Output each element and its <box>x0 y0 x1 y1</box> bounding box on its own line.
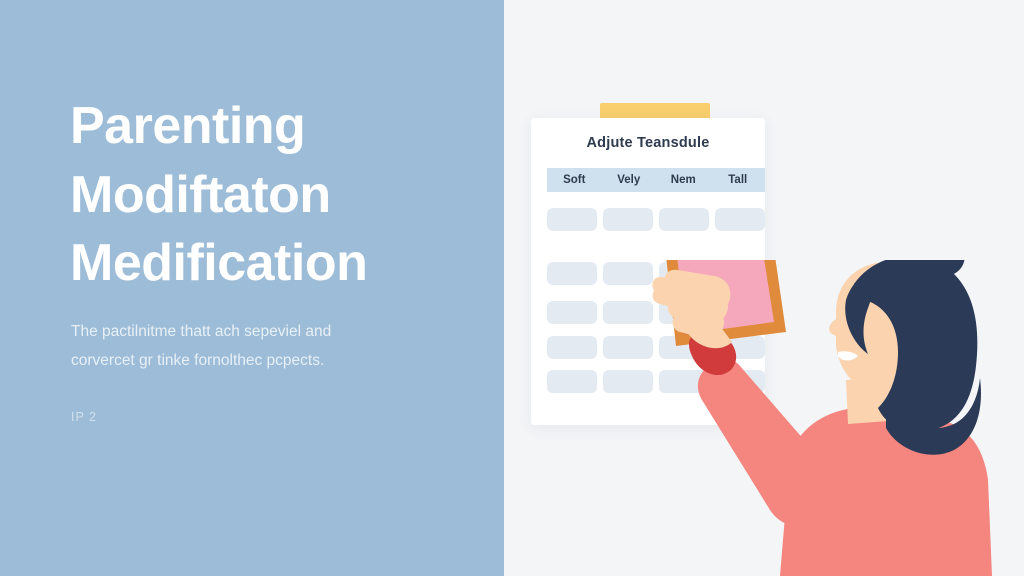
table-cell[interactable] <box>547 370 597 393</box>
illustration-woman-holding-card <box>640 260 1024 576</box>
subtitle-line-1: The pactilnitme thatt ach sepeviel and <box>71 318 441 347</box>
table-cell[interactable] <box>547 301 597 324</box>
column-header-2: Vely <box>602 168 657 192</box>
left-panel: Parenting Modiftaton Medification The pa… <box>0 0 504 576</box>
table-cell[interactable] <box>603 208 653 231</box>
headline-line-1: Parenting <box>70 92 470 161</box>
column-header-4: Tall <box>711 168 766 192</box>
headline-line-3: Medification <box>70 229 470 298</box>
column-header-1: Soft <box>547 168 602 192</box>
schedule-table-header-row: Soft Vely Nem Tall <box>547 168 765 192</box>
page-title: Parenting Modiftaton Medification <box>70 92 470 298</box>
column-header-3: Nem <box>656 168 711 192</box>
table-cell[interactable] <box>547 208 597 231</box>
subtitle-line-2: corvercet gr tinke fornolthec pcpects. <box>71 347 441 376</box>
schedule-card-title: Adjute Teansdule <box>531 135 765 151</box>
table-row <box>547 208 765 231</box>
table-cell[interactable] <box>547 262 597 285</box>
table-cell[interactable] <box>659 208 709 231</box>
page-number-label: IP 2 <box>71 410 97 424</box>
table-cell[interactable] <box>715 208 765 231</box>
subtitle-paragraph: The pactilnitme thatt ach sepeviel and c… <box>71 318 441 375</box>
slide-canvas: Parenting Modiftaton Medification The pa… <box>0 0 1024 576</box>
headline-line-2: Modiftaton <box>70 161 470 230</box>
table-cell[interactable] <box>547 336 597 359</box>
